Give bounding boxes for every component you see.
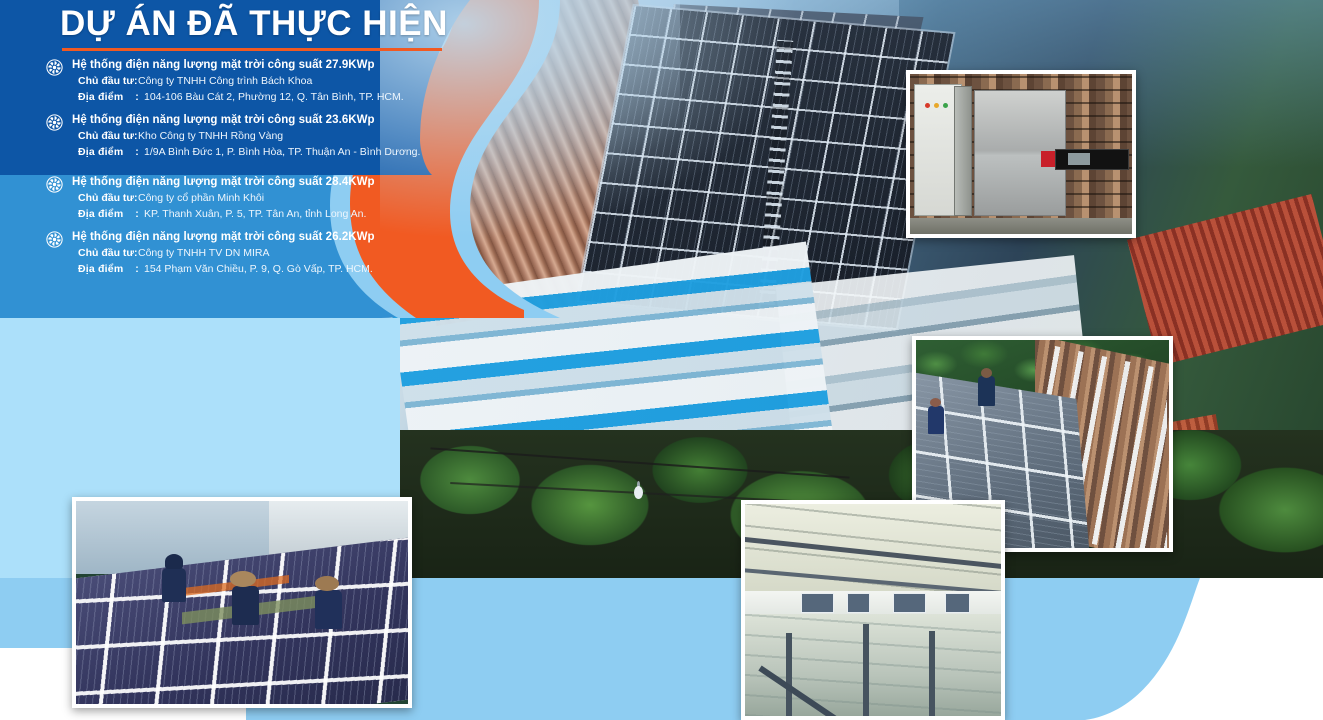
window-pane [893, 593, 926, 613]
window-pane [945, 593, 970, 613]
interior-structure [745, 614, 1001, 716]
ground-strip [910, 218, 1132, 234]
project-heading: Hệ thống điện năng lượng mặt trời công s… [72, 113, 516, 128]
project-heading: Hệ thống điện năng lượng mặt trời công s… [72, 175, 516, 190]
label-separator: : [130, 144, 144, 160]
diagonal-brace [759, 666, 873, 720]
worker-kneeling-3 [315, 590, 342, 629]
project-item[interactable]: Hệ thống điện năng lượng mặt trời công s… [46, 58, 516, 105]
location-value: 154 Phạm Văn Chiều, P. 9, Q. Gò Vấp, TP.… [144, 261, 373, 277]
label-separator: : [130, 206, 144, 222]
poster-canvas: DỰ ÁN ĐÃ THỰC HIỆN [0, 0, 1323, 720]
support-column [786, 633, 792, 716]
mounting-structure-photo [741, 500, 1005, 720]
title-underline [62, 48, 442, 51]
sun-icon [46, 59, 63, 76]
sun-icon [46, 176, 63, 193]
sun-icon [46, 114, 63, 131]
investor-row: Chủ đầu tư: Công ty TNHH Công trình Bách… [72, 73, 516, 89]
project-item[interactable]: Hệ thống điện năng lượng mặt trời công s… [46, 175, 516, 222]
label-separator: : [130, 89, 144, 105]
inverter-display [1055, 149, 1129, 170]
window-pane [801, 593, 834, 613]
investor-value: Công ty cổ phần Minh Khôi [138, 190, 264, 206]
worker-kneeling-1 [162, 568, 185, 603]
location-label: Địa điểm [78, 144, 130, 160]
investor-label: Chủ đầu tư: [78, 128, 138, 144]
location-row: Địa điểm : KP. Thanh Xuân, P. 5, TP. Tân… [72, 206, 516, 222]
project-list-panel: DỰ ÁN ĐÃ THỰC HIỆN [0, 0, 520, 310]
street-lamp [634, 486, 643, 499]
project-item[interactable]: Hệ thống điện năng lượng mặt trời công s… [46, 113, 516, 160]
investor-label: Chủ đầu tư: [78, 73, 138, 89]
investor-value: Kho Công ty TNHH Rồng Vàng [138, 128, 283, 144]
location-value: 104-106 Bàu Cát 2, Phường 12, Q. Tân Bìn… [144, 89, 404, 105]
location-row: Địa điểm : 154 Phạm Văn Chiều, P. 9, Q. … [72, 261, 516, 277]
investor-row: Chủ đầu tư: Công ty cổ phần Minh Khôi [72, 190, 516, 206]
investor-row: Chủ đầu tư: Kho Công ty TNHH Rồng Vàng [72, 128, 516, 144]
workers-photo [72, 497, 412, 708]
investor-row: Chủ đầu tư: Công ty TNHH TV DN MIRA [72, 245, 516, 261]
location-value: KP. Thanh Xuân, P. 5, TP. Tân An, tỉnh L… [144, 206, 366, 222]
cabinet-door [954, 86, 972, 216]
project-item[interactable]: Hệ thống điện năng lượng mặt trời công s… [46, 230, 516, 277]
project-list: Hệ thống điện năng lượng mặt trời công s… [46, 58, 516, 285]
window-pane [847, 593, 869, 613]
investor-label: Chủ đầu tư: [78, 245, 138, 261]
location-label: Địa điểm [78, 206, 130, 222]
worker-figure-2 [928, 406, 944, 434]
section-gap [46, 168, 516, 175]
project-heading: Hệ thống điện năng lượng mặt trời công s… [72, 230, 516, 245]
investor-value: Công ty TNHH Công trình Bách Khoa [138, 73, 312, 89]
investor-label: Chủ đầu tư: [78, 190, 138, 206]
support-column [863, 624, 869, 716]
worker-figure-1 [978, 376, 995, 406]
worker-kneeling-2 [232, 586, 259, 625]
inverter-photo [906, 70, 1136, 238]
page-title: DỰ ÁN ĐÃ THỰC HIỆN [60, 4, 448, 44]
location-row: Địa điểm : 1/9A Bình Đức 1, P. Bình Hòa,… [72, 144, 516, 160]
inverter-brand-badge [1041, 151, 1055, 167]
location-value: 1/9A Bình Đức 1, P. Bình Hòa, TP. Thuận … [144, 144, 420, 160]
location-label: Địa điểm [78, 261, 130, 277]
sun-icon [46, 231, 63, 248]
support-column [929, 631, 935, 716]
project-heading: Hệ thống điện năng lượng mặt trời công s… [72, 58, 516, 73]
location-label: Địa điểm [78, 89, 130, 105]
label-separator: : [130, 261, 144, 277]
indicator-lamps [925, 103, 948, 108]
window-row [745, 591, 1001, 616]
investor-value: Công ty TNHH TV DN MIRA [138, 245, 269, 261]
location-row: Địa điểm : 104-106 Bàu Cát 2, Phường 12,… [72, 89, 516, 105]
solar-inverter-unit [974, 90, 1066, 216]
